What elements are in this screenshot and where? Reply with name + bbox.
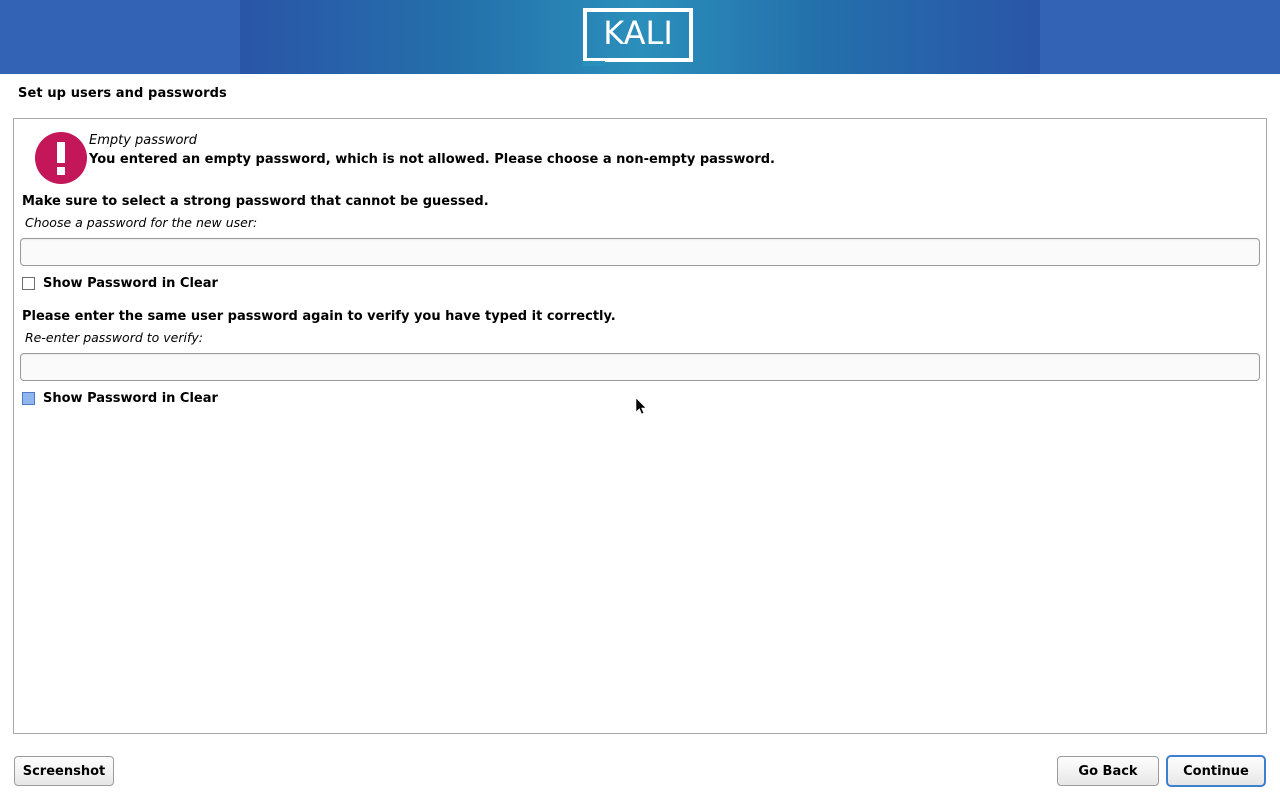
password-field-label: Choose a password for the new user: (25, 215, 257, 230)
password-input[interactable] (20, 238, 1260, 266)
error-exclamation-icon (35, 132, 87, 184)
password-hint: Make sure to select a strong password th… (22, 194, 489, 209)
show-password-label-1: Show Password in Clear (43, 276, 218, 291)
verify-password-input[interactable] (20, 353, 1260, 381)
continue-button[interactable]: Continue (1166, 755, 1266, 787)
exclamation-dot (57, 167, 65, 175)
verify-hint: Please enter the same user password agai… (22, 309, 616, 324)
exclamation-bar (57, 142, 65, 163)
show-password-checkbox-1[interactable] (22, 277, 35, 290)
show-password-checkbox-2[interactable] (22, 392, 35, 405)
alert-title: Empty password (89, 133, 197, 148)
kali-banner: KALI (0, 0, 1280, 74)
page-title: Set up users and passwords (18, 86, 227, 101)
show-password-label-2: Show Password in Clear (43, 391, 218, 406)
installer-window: KALI Set up users and passwords Empty pa… (0, 0, 1280, 800)
verify-field-label: Re-enter password to verify: (25, 330, 203, 345)
content-panel: Empty password You entered an empty pass… (13, 118, 1267, 734)
go-back-button[interactable]: Go Back (1057, 756, 1159, 786)
kali-logo: KALI (583, 8, 697, 66)
screenshot-button[interactable]: Screenshot (14, 756, 114, 786)
alert-message: You entered an empty password, which is … (89, 152, 775, 167)
logo-text: KALI (583, 8, 693, 62)
